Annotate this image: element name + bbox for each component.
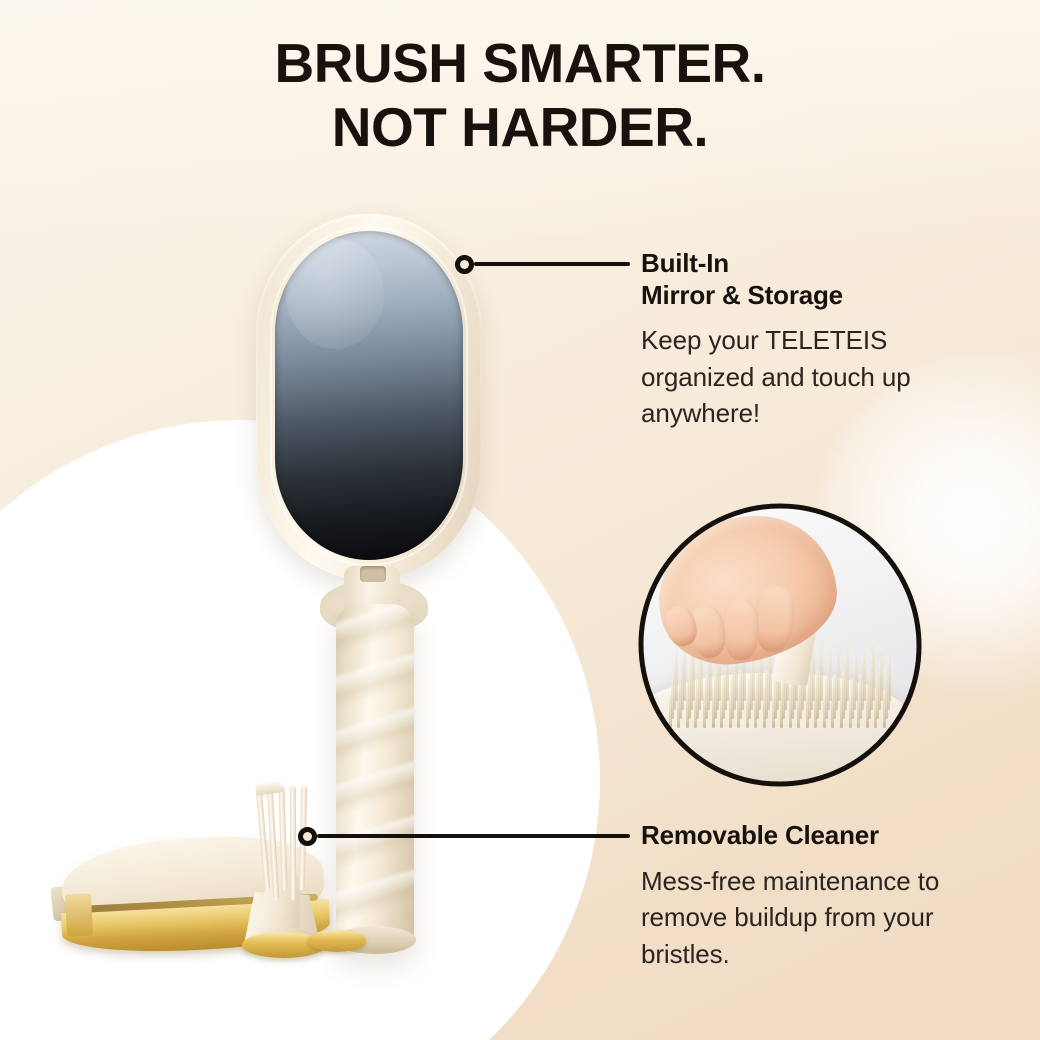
inset-bristle [846, 638, 849, 701]
handle-latch [360, 566, 386, 582]
callout-cleaner-title: Removable Cleaner [641, 820, 971, 852]
callout-removable-cleaner: Removable Cleaner Mess-free maintenance … [641, 820, 971, 972]
callout-mirror-title: Built-In Mirror & Storage [641, 248, 971, 311]
cleaner-tine [278, 786, 287, 890]
leader-line-mirror [474, 262, 630, 266]
inset-bristle [889, 642, 891, 701]
callout-dot-icon-mirror [455, 255, 474, 274]
callout-mirror-title-line-2: Mirror & Storage [641, 280, 843, 310]
callout-cleaner-title-line-1: Removable Cleaner [641, 820, 879, 850]
leader-line-cleaner [317, 834, 630, 838]
inset-bristle [829, 646, 832, 701]
cleaner-gold-collar [308, 930, 366, 952]
inset-bristle [820, 638, 823, 701]
callout-mirror-body: Keep your TELETEIS organized and touch u… [641, 322, 971, 431]
callout-cleaner-body: Mess-free maintenance to remove buildup … [641, 863, 971, 972]
inset-photo [641, 506, 919, 784]
inset-bristle [855, 646, 858, 701]
inset-bristle [872, 638, 875, 701]
lid-clip [65, 893, 93, 936]
callout-dot-icon-cleaner [298, 827, 317, 846]
inset-photo-content [641, 506, 919, 784]
callout-mirror-title-line-1: Built-In [641, 248, 729, 278]
inset-bristle [863, 642, 866, 701]
mirror-glass [275, 231, 463, 560]
infographic-canvas: BRUSH SMARTER. NOT HARDER. [0, 0, 1040, 1040]
inset-bristle [675, 646, 678, 701]
cleaner-tine [290, 786, 296, 900]
callout-mirror-storage: Built-In Mirror & Storage Keep your TELE… [641, 248, 971, 432]
cleaner-tines [258, 786, 310, 904]
mirror-frame [256, 214, 482, 580]
twisted-handle [336, 604, 414, 950]
inset-bristle [880, 646, 883, 701]
